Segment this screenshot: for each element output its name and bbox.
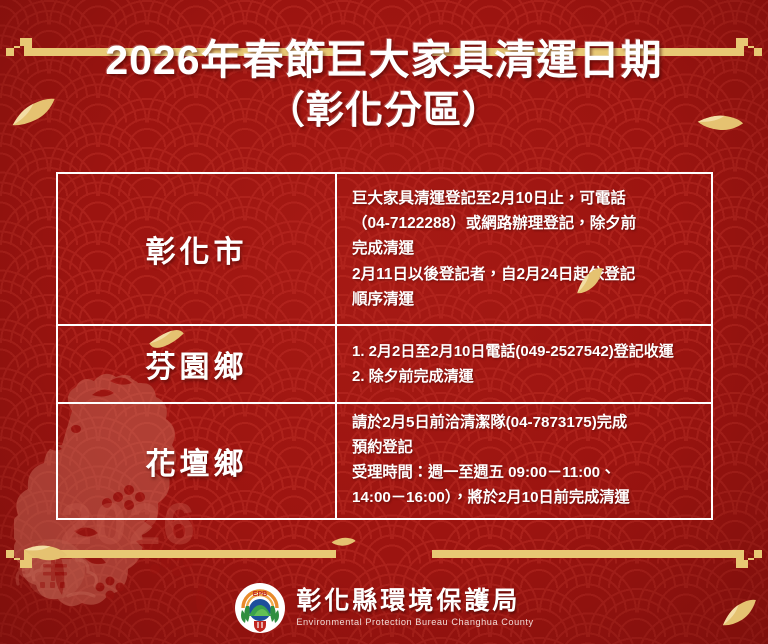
title-sub-line: （彰化分區） — [0, 87, 768, 136]
schedule-table: 彰化市 巨大家具清運登記至2月10日止，可電話 （04-7122288）或網路辦… — [56, 172, 713, 520]
district-detail: 請於2月5日前洽清潔隊(04-7873175)完成 預約登記 受理時間：週一至週… — [352, 411, 630, 511]
table-cell-detail: 巨大家具清運登記至2月10日止，可電話 （04-7122288）或網路辦理登記，… — [337, 174, 711, 324]
table-row: 芬園鄉 1. 2月2日至2月10日電話(049-2527542)登記收運 2. … — [58, 326, 711, 404]
table-cell-detail: 請於2月5日前洽清潔隊(04-7873175)完成 預約登記 受理時間：週一至週… — [337, 404, 711, 518]
poster-title: 2026年春節巨大家具清運日期 （彰化分區） — [0, 34, 768, 137]
epb-logo-icon: EPB — [234, 582, 286, 634]
district-detail: 1. 2月2日至2月10日電話(049-2527542)登記收運 2. 除夕前完… — [352, 339, 674, 390]
district-name: 花壇鄉 — [146, 439, 248, 483]
svg-text:EPB: EPB — [253, 591, 267, 598]
district-name: 彰化市 — [146, 227, 248, 271]
org-name-zh: 彰化縣環境保護局 — [296, 589, 533, 614]
table-cell-detail: 1. 2月2日至2月10日電話(049-2527542)登記收運 2. 除夕前完… — [337, 326, 711, 402]
footer-text-block: 彰化縣環境保護局 Environmental Protection Bureau… — [296, 589, 533, 627]
table-cell-district: 花壇鄉 — [58, 404, 337, 518]
poster-root: 2026 — [0, 0, 768, 644]
district-name: 芬園鄉 — [146, 342, 248, 386]
footer-branding: EPB 彰化縣環境保護局 Environmental Protection Bu… — [0, 582, 768, 634]
table-cell-district: 芬園鄉 — [58, 326, 337, 402]
table-row: 花壇鄉 請於2月5日前洽清潔隊(04-7873175)完成 預約登記 受理時間：… — [58, 404, 711, 518]
title-main-line: 2026年春節巨大家具清運日期 — [0, 34, 768, 87]
org-name-en: Environmental Protection Bureau Changhua… — [296, 618, 533, 627]
table-row: 彰化市 巨大家具清運登記至2月10日止，可電話 （04-7122288）或網路辦… — [58, 174, 711, 326]
district-detail: 巨大家具清運登記至2月10日止，可電話 （04-7122288）或網路辦理登記，… — [352, 186, 636, 312]
table-cell-district: 彰化市 — [58, 174, 337, 324]
